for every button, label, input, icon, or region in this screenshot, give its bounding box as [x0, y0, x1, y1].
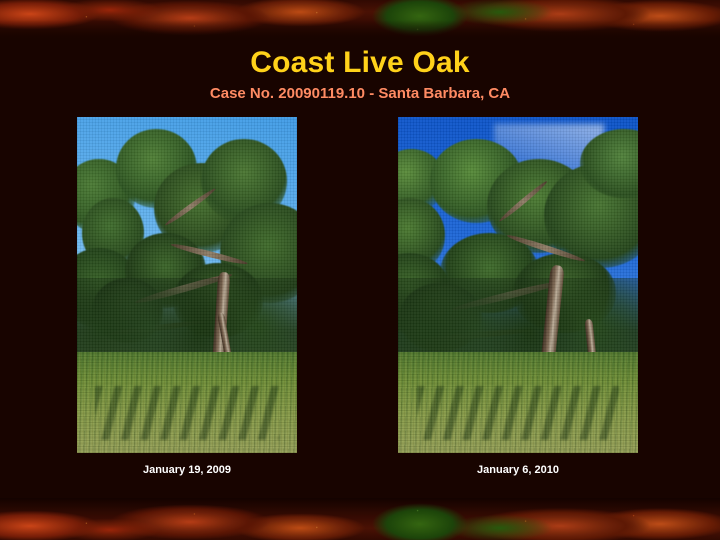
- flame-border-bottom: [0, 498, 720, 540]
- slide-subtitle: Case No. 20090119.10 - Santa Barbara, CA: [0, 84, 720, 104]
- flame-border-top: [0, 0, 720, 42]
- photo-caption-right: January 6, 2010: [398, 464, 638, 476]
- photo-block-left: January 19, 2009: [77, 117, 297, 476]
- photo-block-right: January 6, 2010: [398, 117, 638, 476]
- photo-caption-left: January 19, 2009: [77, 464, 297, 476]
- photo-left[interactable]: [77, 117, 297, 453]
- photo-right[interactable]: [398, 117, 638, 453]
- presentation-slide: Coast Live Oak Case No. 20090119.10 - Sa…: [0, 0, 720, 540]
- tree-shadow-right: [417, 386, 619, 440]
- tree-shadow-left: [95, 386, 280, 440]
- slide-title: Coast Live Oak: [0, 46, 720, 80]
